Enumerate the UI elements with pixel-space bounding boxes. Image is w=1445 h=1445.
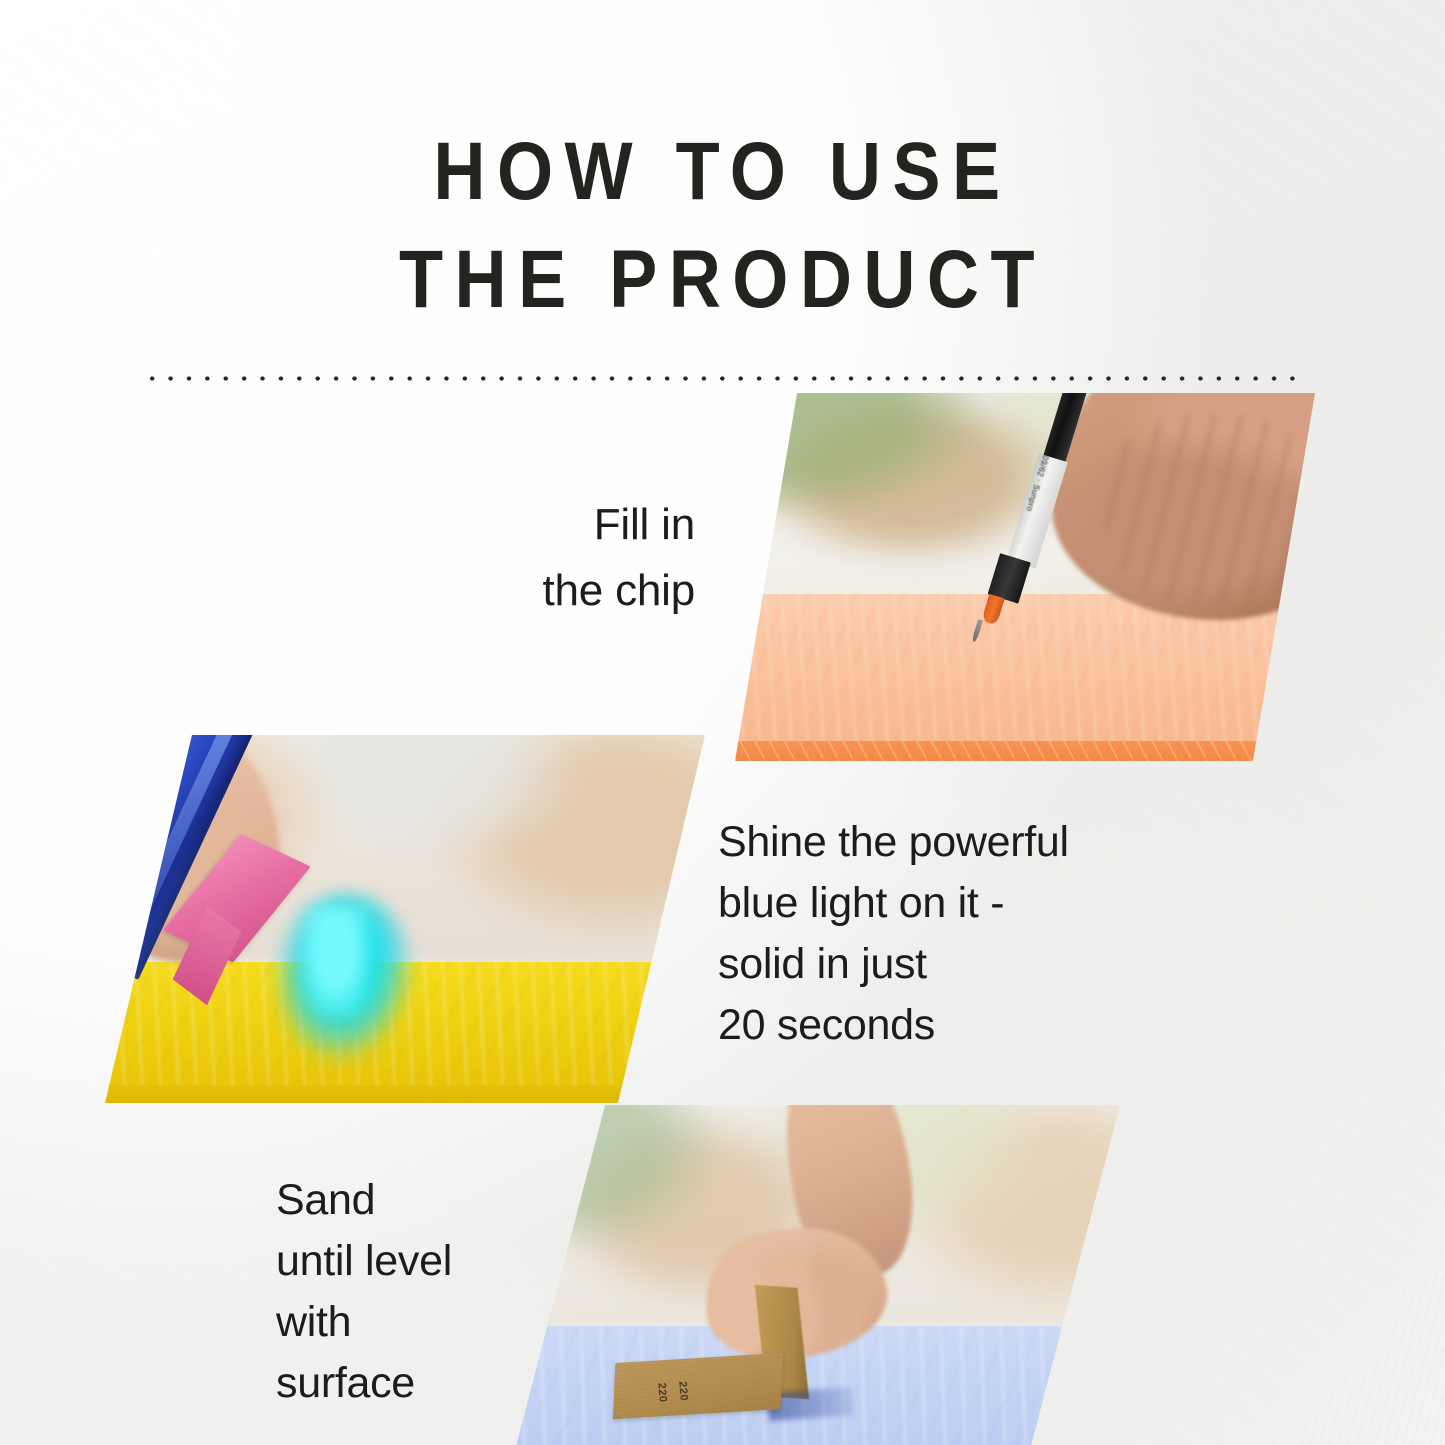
countertop-edge-yellow: [105, 1085, 705, 1103]
step-image-light-inner: [105, 735, 705, 1103]
scene-shine-blue-light: [105, 735, 705, 1103]
step-image-fill-inner: 09/62 · Sunpro: [735, 393, 1315, 761]
step-caption-light: Shine the powerful blue light on it - so…: [718, 812, 1188, 1056]
sandpaper-sheet: [613, 1352, 784, 1419]
step-image-fill: 09/62 · Sunpro: [735, 393, 1315, 761]
step-image-sand-inner: 220 220: [515, 1105, 1120, 1445]
sandpaper-grit-labels: 220 220: [655, 1380, 689, 1402]
countertop-edge-orange: [735, 741, 1315, 761]
infographic-page: HOW TO USE THE PRODUCT Fill in the chip …: [0, 0, 1445, 1445]
title-line-2: THE PRODUCT: [87, 226, 1359, 334]
grit-label-1: 220: [655, 1382, 668, 1403]
grit-label-2: 220: [676, 1380, 689, 1401]
dotted-divider: [143, 374, 1306, 383]
step-caption-sand: Sand until level with surface: [276, 1170, 536, 1414]
step-image-sand: 220 220: [515, 1105, 1120, 1445]
title-line-1: HOW TO USE: [87, 118, 1359, 226]
step-caption-fill: Fill in the chip: [470, 492, 695, 624]
uv-light-beam-core: [301, 906, 371, 1017]
scene-sand-until-level: 220 220: [515, 1105, 1120, 1445]
step-image-light: [105, 735, 705, 1103]
page-title: HOW TO USE THE PRODUCT: [0, 118, 1445, 334]
hand-knuckles: [1106, 415, 1315, 603]
scene-fill-the-chip: 09/62 · Sunpro: [735, 393, 1315, 761]
